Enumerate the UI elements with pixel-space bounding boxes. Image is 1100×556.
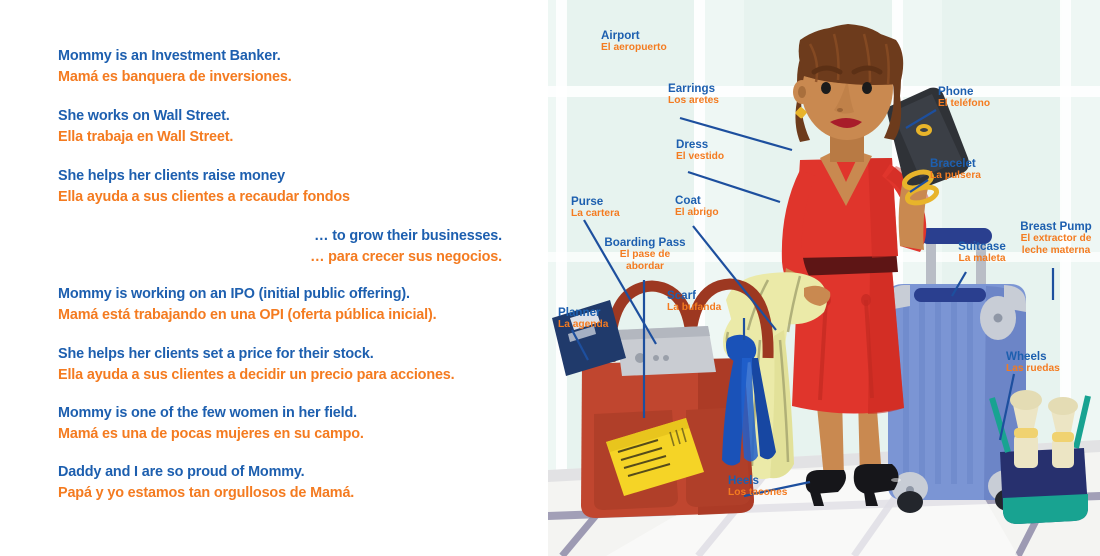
- label-breast-pump-spanish: El extractor de leche materna: [1016, 233, 1096, 257]
- label-airport: Airport El aeropuerto: [601, 29, 667, 54]
- label-wheels: Wheels Las ruedas: [1006, 350, 1060, 375]
- story-paragraph-6: She helps her clients set a price for th…: [58, 344, 455, 386]
- label-earrings-english: Earrings: [668, 82, 719, 95]
- label-boarding-pass-spanish: El pase de abordar: [600, 249, 690, 273]
- paragraph-english: … to grow their businesses.: [310, 226, 502, 247]
- label-coat-english: Coat: [675, 194, 719, 207]
- label-breast-pump-english: Breast Pump: [1016, 220, 1096, 233]
- label-earrings-spanish: Los aretes: [668, 95, 719, 107]
- label-scarf: Scarf La bufanda: [667, 289, 721, 314]
- story-paragraph-8: Daddy and I are so proud of Mommy. Papá …: [58, 462, 354, 504]
- story-paragraph-7: Mommy is one of the few women in her fie…: [58, 403, 364, 445]
- paragraph-english: She works on Wall Street.: [58, 106, 233, 127]
- label-coat: Coat El abrigo: [675, 194, 719, 219]
- paragraph-english: Daddy and I are so proud of Mommy.: [58, 462, 354, 483]
- label-airport-english: Airport: [601, 29, 667, 42]
- pump-bag-trim: [1003, 494, 1088, 524]
- paragraph-english: She helps her clients set a price for th…: [58, 344, 455, 365]
- label-bracelet-spanish: La pulsera: [930, 170, 981, 182]
- label-bracelet: Bracelet La pulsera: [930, 157, 981, 182]
- paragraph-spanish: Papá y yo estamos tan orgullosos de Mamá…: [58, 483, 354, 504]
- label-planner-spanish: La agenda: [558, 319, 608, 331]
- story-paragraph-5: Mommy is working on an IPO (initial publ…: [58, 284, 437, 326]
- label-dress: Dress El vestido: [676, 138, 724, 163]
- airport-scene-illustration: [548, 0, 1100, 556]
- label-planner-english: Planner: [558, 306, 608, 319]
- paragraph-spanish: Ella trabaja en Wall Street.: [58, 127, 233, 148]
- label-dress-spanish: El vestido: [676, 151, 724, 163]
- eye-right: [862, 82, 872, 94]
- label-breast-pump: Breast Pump El extractor de leche matern…: [1016, 220, 1096, 257]
- label-heels-spanish: Los tacones: [728, 487, 787, 499]
- label-airport-spanish: El aeropuerto: [601, 42, 667, 54]
- label-phone: Phone El teléfono: [938, 85, 990, 110]
- paragraph-spanish: Ella ayuda a sus clientes a recaudar fon…: [58, 187, 350, 208]
- paragraph-english: Mommy is one of the few women in her fie…: [58, 403, 364, 424]
- paragraph-english: Mommy is an Investment Banker.: [58, 46, 292, 67]
- label-planner: Planner La agenda: [558, 306, 608, 331]
- label-scarf-spanish: La bufanda: [667, 302, 721, 314]
- label-boarding-pass-english: Boarding Pass: [600, 236, 690, 249]
- label-earrings: Earrings Los aretes: [668, 82, 719, 107]
- story-text-column: Mommy is an Investment Banker. Mamá es b…: [0, 0, 548, 556]
- eye-left: [821, 82, 831, 94]
- label-bracelet-english: Bracelet: [930, 157, 981, 170]
- story-paragraph-2: She works on Wall Street. Ella trabaja e…: [58, 106, 233, 148]
- label-purse: Purse La cartera: [571, 195, 620, 220]
- paragraph-english: Mommy is working on an IPO (initial publ…: [58, 284, 437, 305]
- paragraph-spanish: Mamá es una de pocas mujeres en su campo…: [58, 424, 364, 445]
- label-heels: Heels Los tacones: [728, 474, 787, 499]
- label-phone-english: Phone: [938, 85, 990, 98]
- paragraph-spanish: Mamá es banquera de inversiones.: [58, 67, 292, 88]
- story-paragraph-3: She helps her clients raise money Ella a…: [58, 166, 350, 208]
- label-purse-english: Purse: [571, 195, 620, 208]
- paragraph-spanish: Ella ayuda a sus clientes a decidir un p…: [58, 365, 455, 386]
- label-phone-spanish: El teléfono: [938, 98, 990, 110]
- label-coat-spanish: El abrigo: [675, 207, 719, 219]
- label-wheels-english: Wheels: [1006, 350, 1060, 363]
- label-scarf-english: Scarf: [667, 289, 721, 302]
- story-paragraph-1: Mommy is an Investment Banker. Mamá es b…: [58, 46, 292, 88]
- label-suitcase-spanish: La maleta: [948, 253, 1016, 265]
- paragraph-spanish: … para crecer sus negocios.: [310, 247, 502, 268]
- illustration-panel: Airport El aeropuerto Earrings Los arete…: [548, 0, 1100, 556]
- label-boarding-pass: Boarding Pass El pase de abordar: [600, 236, 690, 273]
- label-purse-spanish: La cartera: [571, 208, 620, 220]
- story-paragraph-4: … to grow their businesses. … para crece…: [310, 226, 502, 268]
- label-suitcase-english: Suitcase: [948, 240, 1016, 253]
- paragraph-english: She helps her clients raise money: [58, 166, 350, 187]
- label-heels-english: Heels: [728, 474, 787, 487]
- paragraph-spanish: Mamá está trabajando en una OPI (oferta …: [58, 305, 437, 326]
- label-suitcase: Suitcase La maleta: [948, 240, 1016, 265]
- suitcase-wheel-left: [897, 491, 923, 513]
- book-page: Mommy is an Investment Banker. Mamá es b…: [0, 0, 1100, 556]
- label-dress-english: Dress: [676, 138, 724, 151]
- label-wheels-spanish: Las ruedas: [1006, 363, 1060, 375]
